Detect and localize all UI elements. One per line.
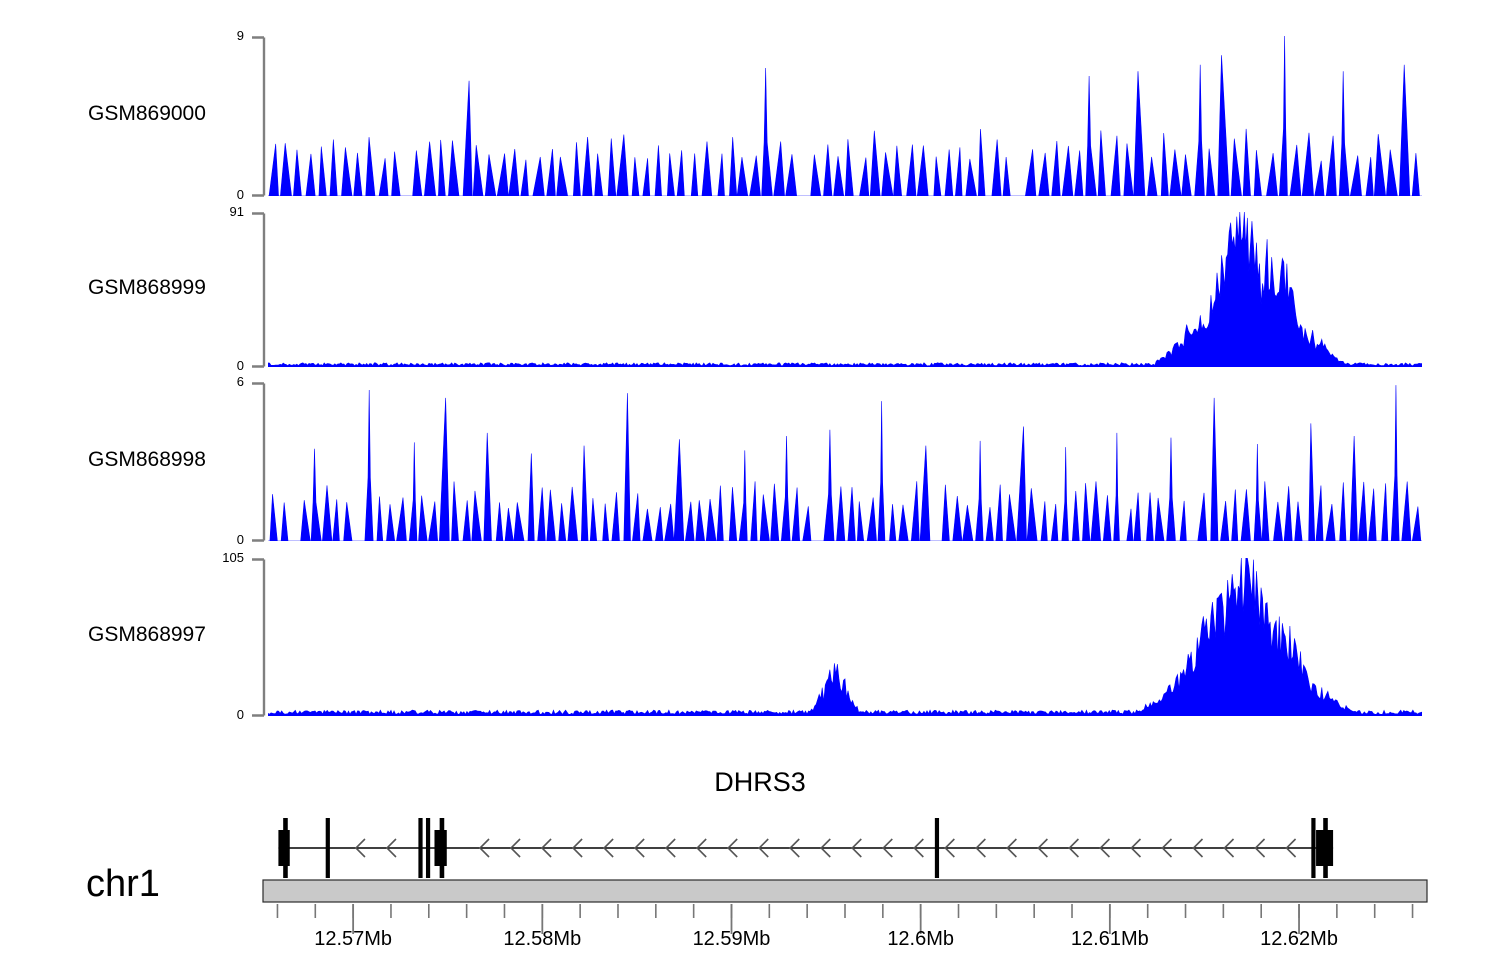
- track-label-gsm868998: GSM868998: [88, 448, 206, 472]
- signal-plot-gsm868999[interactable]: [268, 212, 1422, 367]
- ruler-tick-label: 12.57Mb: [283, 928, 423, 951]
- axis-max-label-gsm868997: 105: [196, 550, 244, 565]
- ruler-tick-label: 12.61Mb: [1040, 928, 1180, 951]
- gene-transcript-model[interactable]: [0, 806, 1500, 886]
- signal-track-gsm868999[interactable]: GSM868999910: [0, 212, 1500, 367]
- ruler-tick-label: 12.6Mb: [851, 928, 991, 951]
- signal-plot-gsm868997[interactable]: [268, 558, 1422, 716]
- track-label-gsm868999: GSM868999: [88, 276, 206, 300]
- signal-plot-gsm868998[interactable]: [268, 382, 1422, 541]
- genomic-coordinate-ruler[interactable]: [0, 878, 1500, 968]
- genome-browser-viewer[interactable]: GSM86900090GSM868999910GSM86899860GSM868…: [0, 0, 1500, 980]
- signal-track-gsm868997[interactable]: GSM8689971050: [0, 558, 1500, 716]
- axis-min-label-gsm868997: 0: [196, 707, 244, 722]
- signal-track-gsm869000[interactable]: GSM86900090: [0, 36, 1500, 196]
- axis-max-label-gsm869000: 9: [196, 28, 244, 43]
- signal-plot-gsm869000[interactable]: [268, 36, 1422, 196]
- ruler-tick-label: 12.58Mb: [472, 928, 612, 951]
- ruler-tick-label: 12.59Mb: [661, 928, 801, 951]
- axis-max-label-gsm868998: 6: [196, 374, 244, 389]
- ruler-tick-label: 12.62Mb: [1229, 928, 1369, 951]
- gene-annotation-panel[interactable]: DHRS3chr112.57Mb12.58Mb12.59Mb12.6Mb12.6…: [0, 760, 1500, 980]
- axis-min-label-gsm868999: 0: [196, 358, 244, 373]
- gene-name-label[interactable]: DHRS3: [600, 767, 920, 798]
- axis-min-label-gsm868998: 0: [196, 532, 244, 547]
- axis-max-label-gsm868999: 91: [196, 204, 244, 219]
- signal-track-gsm868998[interactable]: GSM86899860: [0, 382, 1500, 541]
- axis-min-label-gsm869000: 0: [196, 187, 244, 202]
- track-label-gsm868997: GSM868997: [88, 623, 206, 647]
- track-label-gsm869000: GSM869000: [88, 102, 206, 126]
